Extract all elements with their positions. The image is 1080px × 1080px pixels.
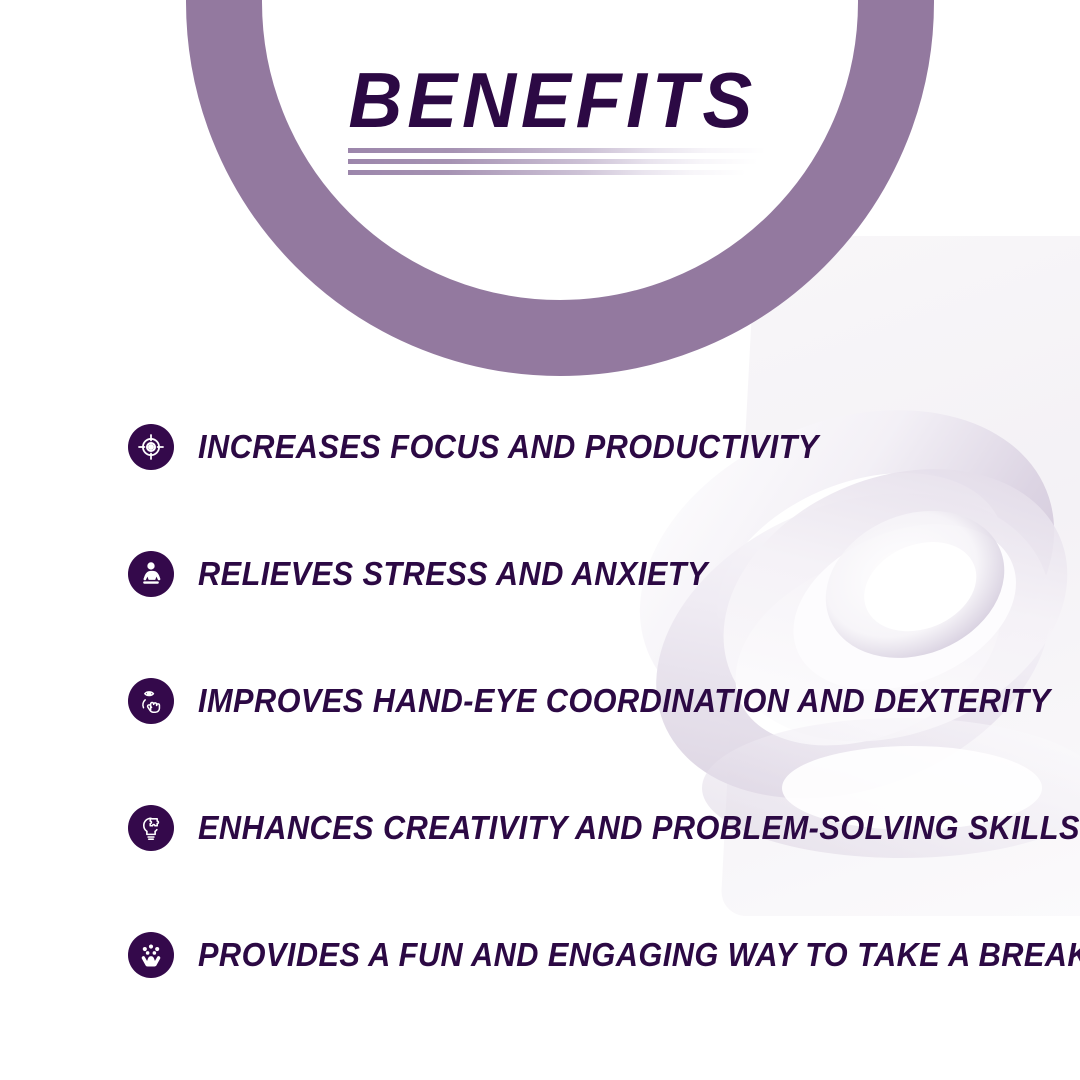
list-item-label: RELIEVES STRESS AND ANXIETY — [198, 556, 708, 592]
eye-hand-icon — [128, 678, 174, 724]
juggling-hands-icon — [128, 932, 174, 978]
target-icon — [128, 424, 174, 470]
list-item: ENHANCES CREATIVITY AND PROBLEM-SOLVING … — [128, 805, 1028, 851]
title-rule-1 — [348, 148, 766, 153]
title-block: BENEFITS — [340, 58, 760, 188]
list-item-label: IMPROVES HAND-EYE COORDINATION AND DEXTE… — [198, 683, 1051, 719]
list-item: INCREASES FOCUS AND PRODUCTIVITY — [128, 424, 1028, 470]
list-item: RELIEVES STRESS AND ANXIETY — [128, 551, 1028, 597]
list-item: PROVIDES A FUN AND ENGAGING WAY TO TAKE … — [128, 932, 1028, 978]
title-underline-rules — [348, 148, 758, 182]
meditation-icon — [128, 551, 174, 597]
title-rule-3 — [348, 170, 746, 175]
list-item: IMPROVES HAND-EYE COORDINATION AND DEXTE… — [128, 678, 1028, 724]
benefits-list: INCREASES FOCUS AND PRODUCTIVITY RELIEVE… — [128, 424, 1028, 978]
title-rule-2 — [348, 159, 758, 164]
list-item-label: INCREASES FOCUS AND PRODUCTIVITY — [198, 429, 819, 465]
list-item-label: PROVIDES A FUN AND ENGAGING WAY TO TAKE … — [198, 937, 1080, 973]
list-item-label: ENHANCES CREATIVITY AND PROBLEM-SOLVING … — [198, 810, 1080, 846]
poster-canvas: BENEFITS — [0, 0, 1080, 1080]
page-title: BENEFITS — [348, 58, 751, 142]
lightbulb-puzzle-icon — [128, 805, 174, 851]
